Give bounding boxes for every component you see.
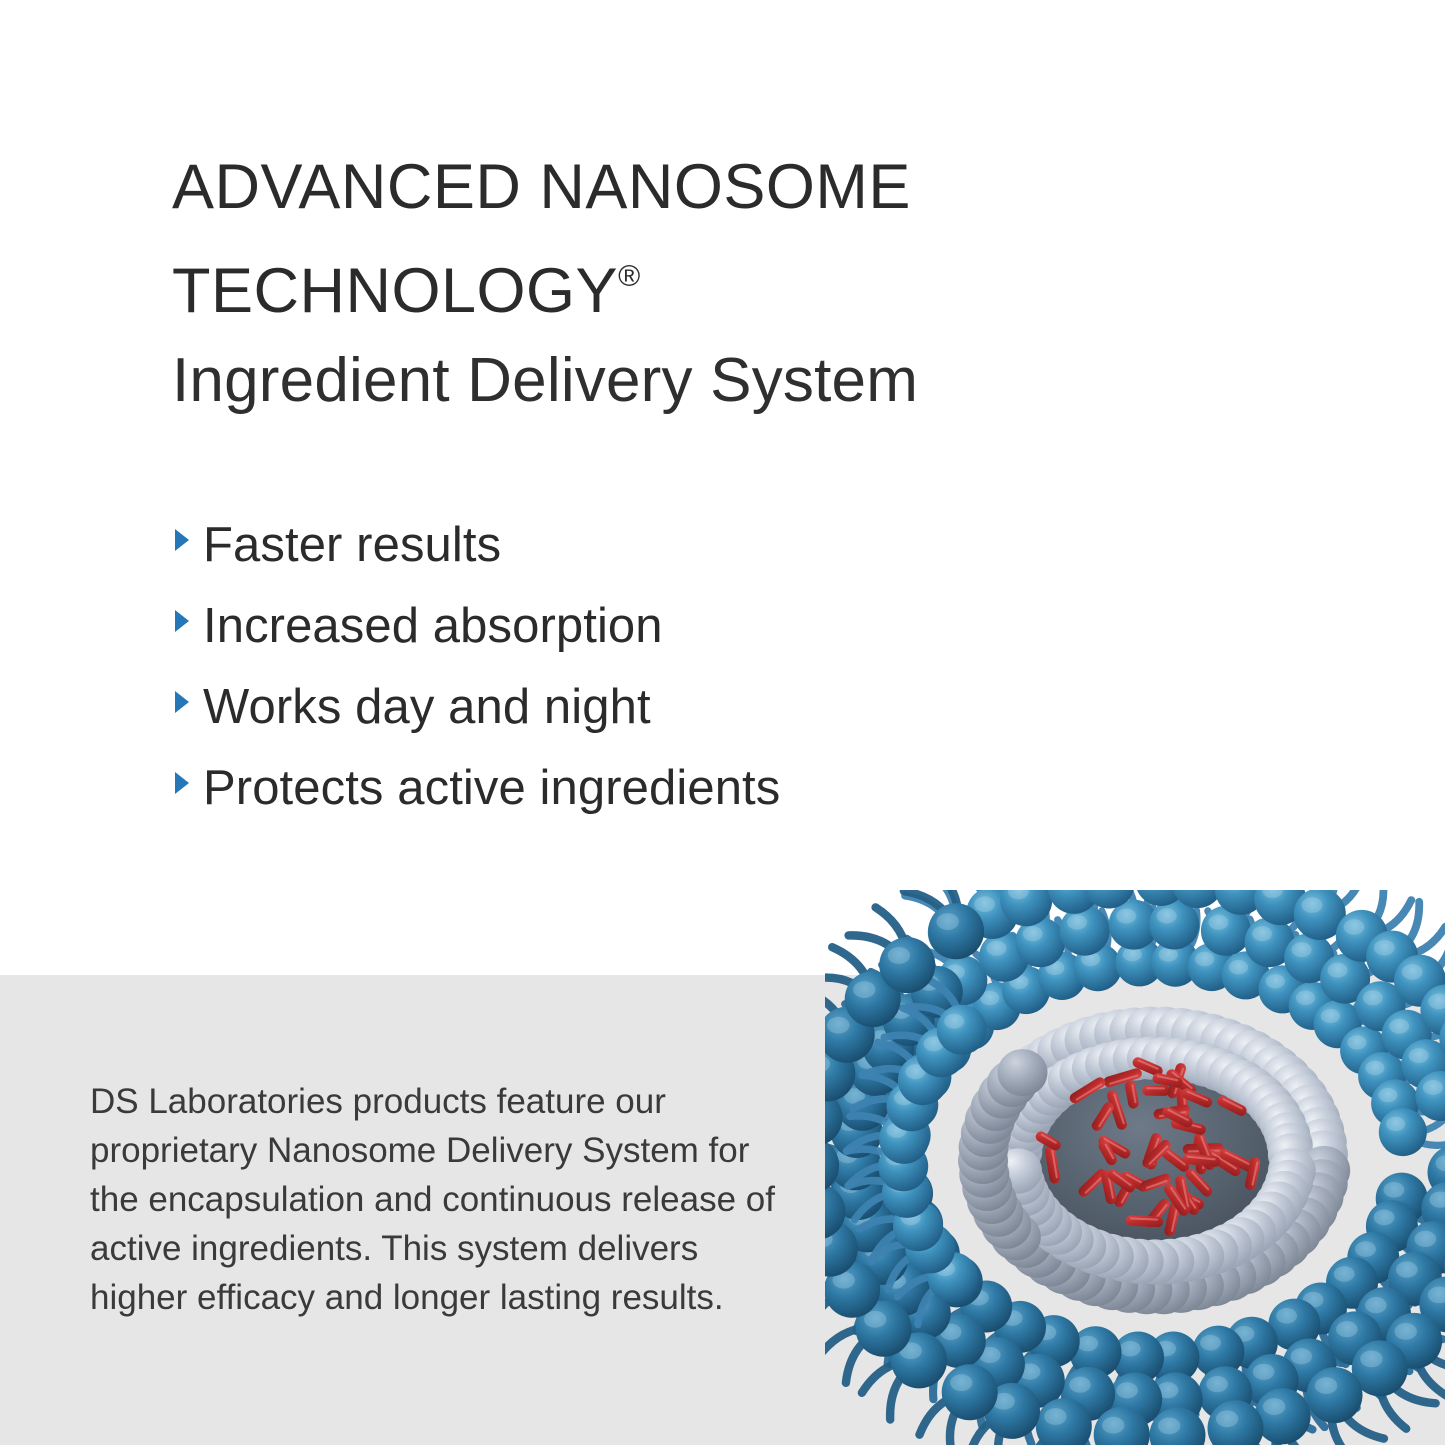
list-item: Increased absorption <box>172 598 1072 679</box>
list-item-label: Works day and night <box>203 679 651 735</box>
triangle-right-icon <box>172 527 203 553</box>
registered-trademark-icon: ® <box>618 260 640 293</box>
triangle-right-icon <box>172 608 203 634</box>
list-item: Protects active ingredients <box>172 760 1072 841</box>
page-subtitle: Ingredient Delivery System <box>172 336 1072 420</box>
triangle-right-icon <box>172 689 203 715</box>
page-title-text: ADVANCED NANOSOME TECHNOLOGY <box>172 152 911 326</box>
description-paragraph: DS Laboratories products feature our pro… <box>90 1077 790 1322</box>
list-item-label: Protects active ingredients <box>203 760 780 816</box>
header-block: ADVANCED NANOSOME TECHNOLOGY® Ingredient… <box>172 143 1072 420</box>
page-title: ADVANCED NANOSOME TECHNOLOGY® <box>172 143 1072 336</box>
benefits-list: Faster results Increased absorption Work… <box>172 517 1072 841</box>
triangle-right-icon <box>172 770 203 796</box>
nanosome-technology-poster: ADVANCED NANOSOME TECHNOLOGY® Ingredient… <box>0 0 1445 1445</box>
list-item-label: Faster results <box>203 517 501 573</box>
list-item: Works day and night <box>172 679 1072 760</box>
list-item: Faster results <box>172 517 1072 598</box>
list-item-label: Increased absorption <box>203 598 663 654</box>
